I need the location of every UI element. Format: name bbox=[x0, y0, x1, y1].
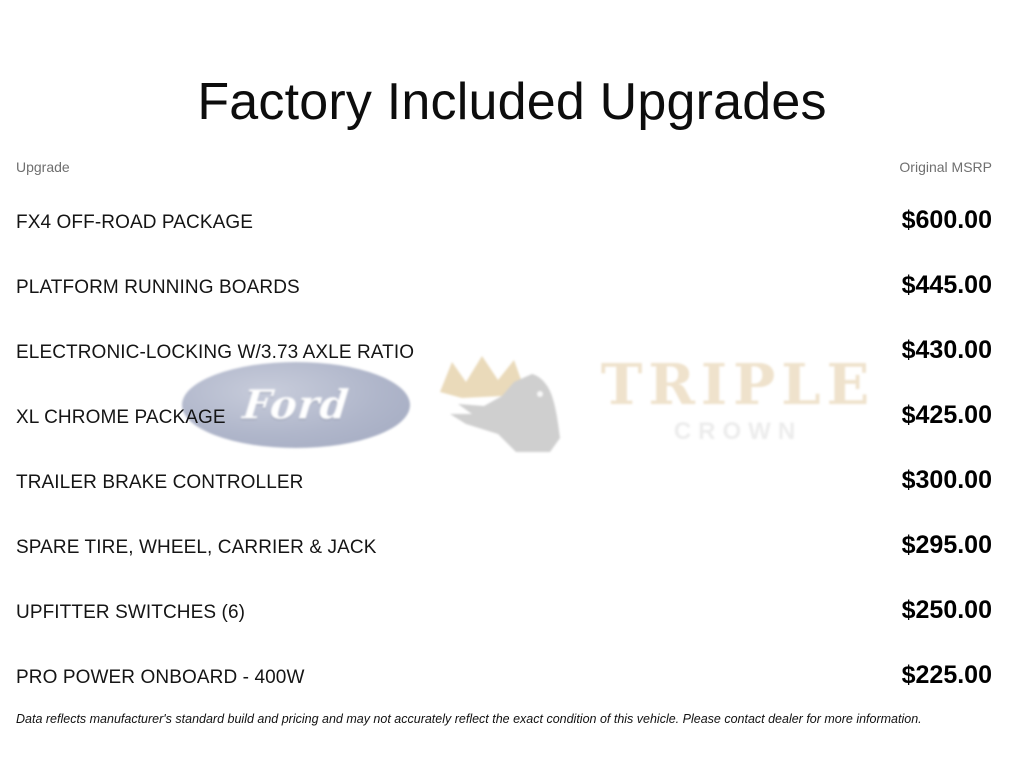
upgrade-name: TRAILER BRAKE CONTROLLER bbox=[16, 471, 303, 495]
table-row: SPARE TIRE, WHEEL, CARRIER & JACK $295.0… bbox=[16, 533, 992, 598]
page-root: Ford TRIPLE CROWN Factory Included Upgra… bbox=[0, 0, 1024, 768]
upgrade-msrp: $295.00 bbox=[902, 533, 992, 557]
column-header-msrp: Original MSRP bbox=[899, 158, 992, 176]
table-row: TRAILER BRAKE CONTROLLER $300.00 bbox=[16, 468, 992, 533]
upgrade-msrp: $445.00 bbox=[902, 273, 992, 297]
content-layer: Factory Included Upgrades Upgrade Origin… bbox=[0, 0, 1024, 768]
table-header-row: Upgrade Original MSRP bbox=[16, 158, 992, 180]
table-row: PLATFORM RUNNING BOARDS $445.00 bbox=[16, 273, 992, 338]
upgrade-msrp: $300.00 bbox=[902, 468, 992, 492]
table-row: UPFITTER SWITCHES (6) $250.00 bbox=[16, 598, 992, 663]
table-row: FX4 OFF-ROAD PACKAGE $600.00 bbox=[16, 208, 992, 273]
upgrade-name: ELECTRONIC-LOCKING W/3.73 AXLE RATIO bbox=[16, 341, 414, 365]
upgrade-msrp: $250.00 bbox=[902, 598, 992, 622]
upgrade-name: SPARE TIRE, WHEEL, CARRIER & JACK bbox=[16, 536, 377, 560]
upgrade-msrp: $430.00 bbox=[902, 338, 992, 362]
upgrade-name: UPFITTER SWITCHES (6) bbox=[16, 601, 245, 625]
upgrade-name: PRO POWER ONBOARD - 400W bbox=[16, 666, 305, 690]
upgrade-name: PLATFORM RUNNING BOARDS bbox=[16, 276, 300, 300]
table-row: XL CHROME PACKAGE $425.00 bbox=[16, 403, 992, 468]
upgrades-table: Upgrade Original MSRP FX4 OFF-ROAD PACKA… bbox=[16, 158, 992, 728]
table-body: FX4 OFF-ROAD PACKAGE $600.00 PLATFORM RU… bbox=[16, 208, 992, 728]
table-row: ELECTRONIC-LOCKING W/3.73 AXLE RATIO $43… bbox=[16, 338, 992, 403]
upgrade-msrp: $425.00 bbox=[902, 403, 992, 427]
column-header-upgrade: Upgrade bbox=[16, 158, 70, 176]
upgrade-name: XL CHROME PACKAGE bbox=[16, 406, 226, 430]
disclaimer-text: Data reflects manufacturer's standard bu… bbox=[16, 711, 1008, 727]
upgrade-msrp: $225.00 bbox=[902, 663, 992, 687]
page-title: Factory Included Upgrades bbox=[0, 71, 1024, 133]
upgrade-msrp: $600.00 bbox=[902, 208, 992, 232]
upgrade-name: FX4 OFF-ROAD PACKAGE bbox=[16, 211, 253, 235]
